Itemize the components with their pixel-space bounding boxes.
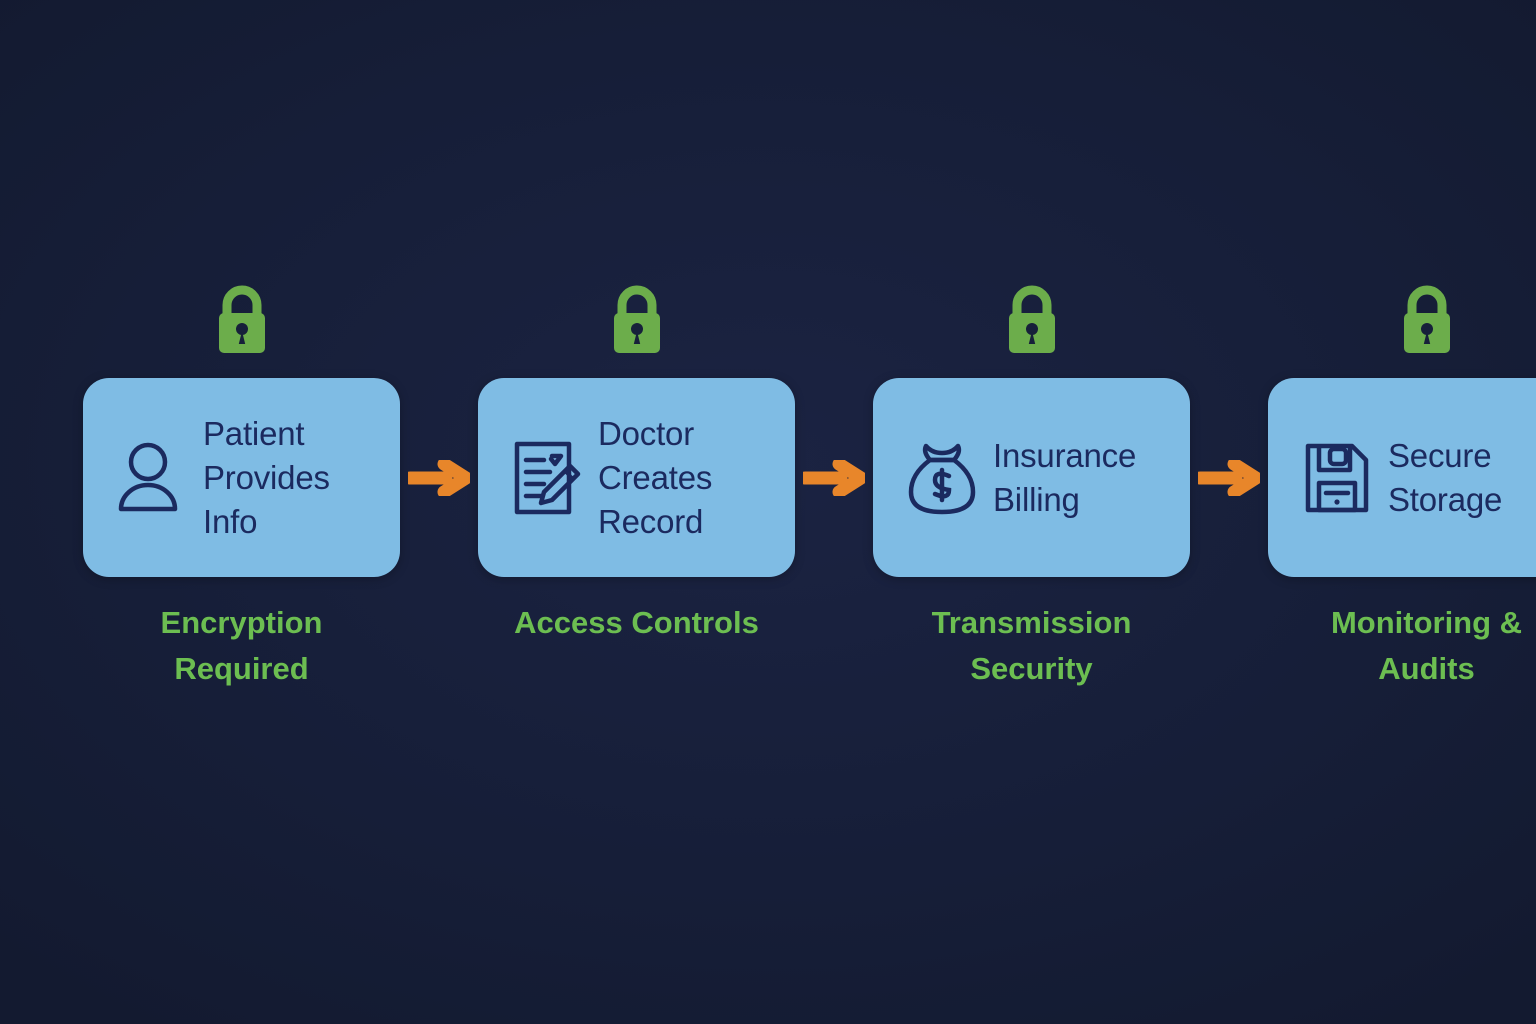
step-label: Patient Provides Info (203, 412, 330, 544)
arrow-right-icon (408, 460, 470, 496)
step-label: Secure Storage (1388, 434, 1502, 522)
arrow-right-icon (803, 460, 865, 496)
step-card[interactable]: Patient Provides Info (83, 378, 400, 577)
diagram-canvas: Patient Provides Info (0, 0, 1536, 1024)
lock-icon (211, 283, 273, 355)
flow-arrow-3 (1190, 378, 1268, 577)
lock-badge-2 (478, 283, 795, 355)
person-icon (115, 438, 189, 518)
step-card[interactable]: Secure Storage (1268, 378, 1536, 577)
flow-step-secure-storage[interactable]: Secure Storage (1268, 378, 1536, 577)
document-pencil-icon (510, 438, 584, 518)
flow-arrow-2 (795, 378, 873, 577)
lock-icon (1001, 283, 1063, 355)
caption-transmission-security: Transmission Security (873, 600, 1190, 692)
flow-step-patient-provides-info[interactable]: Patient Provides Info (83, 378, 400, 577)
flow-step-insurance-billing[interactable]: Insurance Billing (873, 378, 1190, 577)
step-label: Insurance Billing (993, 434, 1136, 522)
step-card[interactable]: Doctor Creates Record (478, 378, 795, 577)
step-label: Doctor Creates Record (598, 412, 712, 544)
floppy-disk-icon (1300, 438, 1374, 518)
flow-step-doctor-creates-record[interactable]: Doctor Creates Record (478, 378, 795, 577)
lock-icon (1396, 283, 1458, 355)
lock-badge-3 (873, 283, 1190, 355)
caption-access-controls: Access Controls (478, 600, 795, 646)
lock-badge-4 (1268, 283, 1536, 355)
lock-icon (606, 283, 668, 355)
caption-monitoring-audits: Monitoring & Audits (1268, 600, 1536, 692)
money-bag-icon (905, 438, 979, 518)
caption-encryption-required: Encryption Required (83, 600, 400, 692)
caption-row: Encryption Required Access Controls Tran… (83, 600, 1455, 692)
lock-badge-1 (83, 283, 400, 355)
process-flow: Patient Provides Info (83, 378, 1455, 577)
flow-arrow-1 (400, 378, 478, 577)
arrow-right-icon (1198, 460, 1260, 496)
step-card[interactable]: Insurance Billing (873, 378, 1190, 577)
